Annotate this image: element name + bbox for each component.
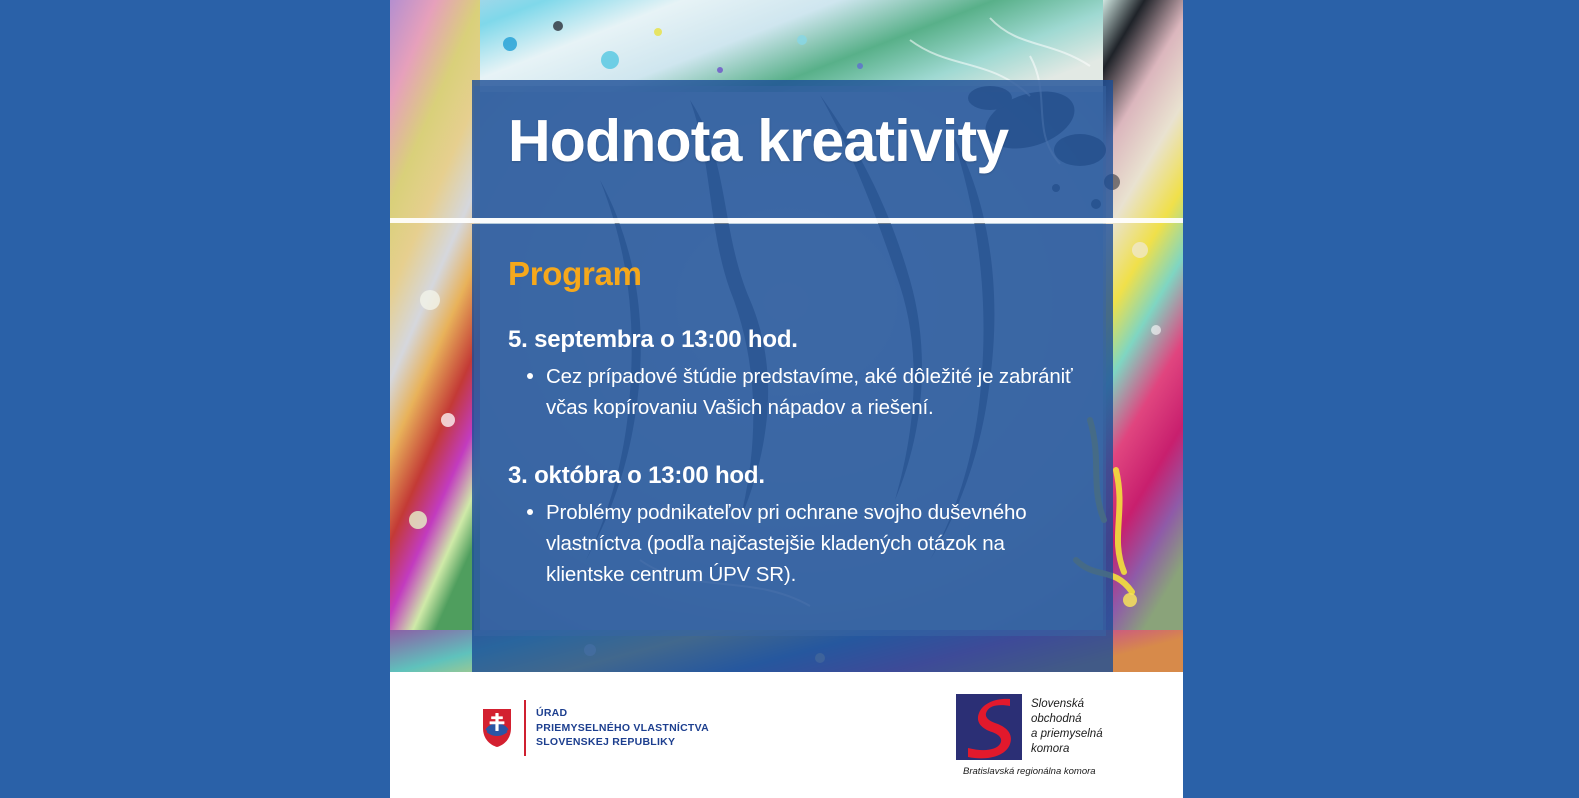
footer: ÚRAD PRIEMYSELNÉHO VLASTNÍCTVA SLOVENSKE… xyxy=(390,672,1183,798)
program-day-1: 3. októbra o 13:00 hod. Problémy podnika… xyxy=(508,461,1088,590)
program-day-0-heading: 5. septembra o 13:00 hod. xyxy=(508,325,1088,355)
sopk-logo-row: Slovenská obchodná a priemyselná komora xyxy=(956,694,1103,760)
upv-logo-line-1: ÚRAD xyxy=(536,706,709,721)
upv-divider xyxy=(524,700,526,756)
sopk-logo: Slovenská obchodná a priemyselná komora … xyxy=(956,694,1103,777)
program-day-1-bullets: Problémy podnikateľov pri ochrane svojho… xyxy=(508,497,1088,590)
slovak-coat-of-arms-icon xyxy=(482,708,512,748)
upv-logo-line-2: PRIEMYSELNÉHO VLASTNÍCTVA xyxy=(536,721,709,736)
poster-card: Hodnota kreativity Program 5. septembra … xyxy=(390,0,1183,798)
sopk-logo-line-2: obchodná xyxy=(1031,712,1103,727)
program-heading: Program xyxy=(508,254,642,294)
sopk-logo-text: Slovenská obchodná a priemyselná komora xyxy=(1031,697,1103,758)
sopk-logo-line-3: a priemyselná xyxy=(1031,727,1103,742)
page-title: Hodnota kreativity xyxy=(508,112,1008,171)
sopk-logo-subtitle: Bratislavská regionálna komora xyxy=(956,766,1103,777)
list-item: Problémy podnikateľov pri ochrane svojho… xyxy=(508,497,1088,590)
list-item: Cez prípadové štúdie predstavíme, aké dô… xyxy=(508,361,1088,423)
sopk-logo-line-1: Slovenská xyxy=(1031,697,1103,712)
sopk-logo-line-4: komora xyxy=(1031,742,1103,757)
sopk-mark-icon xyxy=(956,694,1022,760)
upv-sr-logo: ÚRAD PRIEMYSELNÉHO VLASTNÍCTVA SLOVENSKE… xyxy=(482,700,709,756)
program-day-1-heading: 3. októbra o 13:00 hod. xyxy=(508,461,1088,491)
divider-rule xyxy=(390,218,1183,223)
upv-logo-line-3: SLOVENSKEJ REPUBLIKY xyxy=(536,735,709,750)
upv-logo-text: ÚRAD PRIEMYSELNÉHO VLASTNÍCTVA SLOVENSKE… xyxy=(536,706,709,751)
poster-stage: Hodnota kreativity Program 5. septembra … xyxy=(0,0,1579,798)
program-day-0: 5. septembra o 13:00 hod. Cez prípadové … xyxy=(508,325,1088,423)
program-day-0-bullets: Cez prípadové štúdie predstavíme, aké dô… xyxy=(508,361,1088,423)
